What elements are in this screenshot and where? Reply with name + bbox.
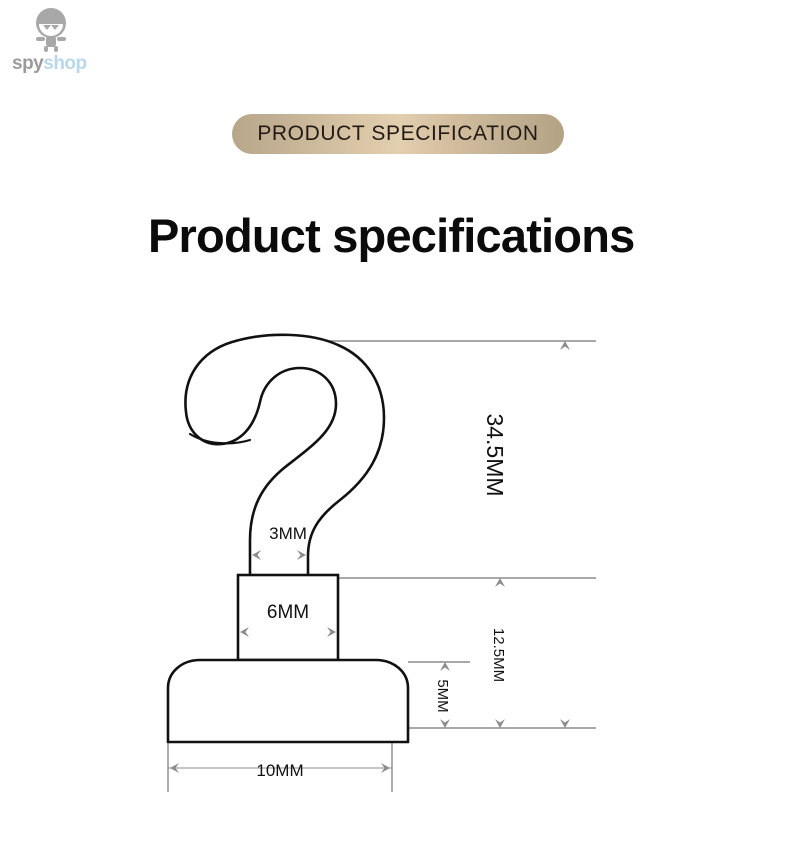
dimension-label-base-height: 12.5MM — [490, 628, 507, 682]
dimension-label-shank-width: 3MM — [269, 524, 307, 543]
dimension-base-height: 12.5MM — [490, 578, 507, 728]
dimension-label-total-height: 34.5MM — [482, 413, 508, 496]
dimension-label-collar-width: 6MM — [267, 602, 309, 623]
base-disc — [168, 660, 408, 742]
dimension-label-base-diameter: 10MM — [256, 761, 303, 780]
dimension-base-diameter: 10MM — [170, 761, 390, 780]
dimension-label-disc-height: 5MM — [434, 679, 451, 712]
hook-magnet-dimension-drawing: 34.5MM 12.5MM 5MM 3MM 6MM — [0, 0, 790, 862]
dimension-disc-height: 5MM — [434, 662, 451, 728]
